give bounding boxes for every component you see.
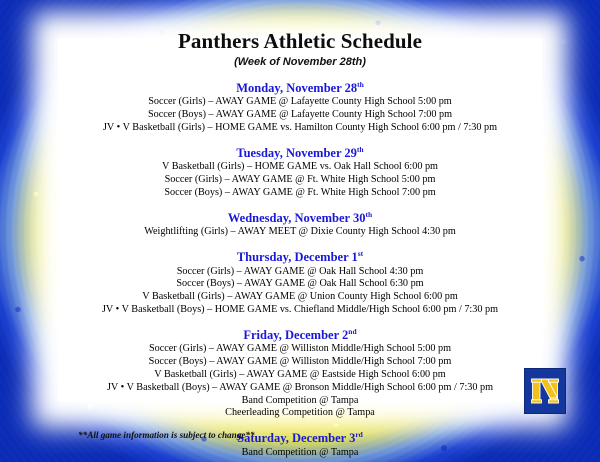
schedule-event: Soccer (Boys) – AWAY GAME @ Williston Mi… <box>40 356 560 369</box>
day-ordinal-suffix: nd <box>348 327 356 336</box>
athletic-schedule-poster: Panthers Athletic Schedule (Week of Nove… <box>0 0 600 462</box>
schedule-event: V Basketball (Girls) – AWAY GAME @ Union… <box>40 291 560 304</box>
schedule-event: Weightlifting (Girls) – AWAY MEET @ Dixi… <box>40 226 560 239</box>
schedule-day-block: Thursday, December 1stSoccer (Girls) – A… <box>40 250 560 317</box>
school-logo <box>524 368 566 414</box>
schedule-event: JV • V Basketball (Girls) – HOME GAME vs… <box>40 122 560 135</box>
schedule-day-block: Friday, December 2ndSoccer (Girls) – AWA… <box>40 328 560 420</box>
day-ordinal-suffix: rd <box>355 430 363 439</box>
day-name: Monday, November 28 <box>236 81 357 95</box>
schedule-event: Soccer (Boys) – AWAY GAME @ Oak Hall Sch… <box>40 278 560 291</box>
day-name: Wednesday, November 30 <box>228 211 366 225</box>
day-heading: Thursday, December 1st <box>40 250 560 264</box>
schedule-event: Soccer (Girls) – AWAY GAME @ Oak Hall Sc… <box>40 266 560 279</box>
schedule-event: Band Competition @ Tampa <box>40 447 560 460</box>
schedule-event: V Basketball (Girls) – HOME GAME vs. Oak… <box>40 161 560 174</box>
page-subtitle: (Week of November 28th) <box>40 56 560 68</box>
day-ordinal-suffix: th <box>365 210 372 219</box>
day-name: Friday, December 2 <box>243 328 348 342</box>
schedule-event: Soccer (Boys) – AWAY GAME @ Ft. White Hi… <box>40 187 560 200</box>
letter-n-icon <box>531 376 559 406</box>
disclaimer-note: **All game information is subject to cha… <box>78 430 255 440</box>
schedule-event: JV • V Basketball (Boys) – AWAY GAME @ B… <box>40 382 560 395</box>
day-name: Thursday, December 1 <box>237 250 358 264</box>
schedule-day-block: Tuesday, November 29thV Basketball (Girl… <box>40 146 560 200</box>
schedule-event: JV • V Basketball (Boys) – HOME GAME vs.… <box>40 304 560 317</box>
day-heading: Tuesday, November 29th <box>40 146 560 160</box>
day-heading: Monday, November 28th <box>40 81 560 95</box>
schedule-day-list: Monday, November 28thSoccer (Girls) – AW… <box>40 81 560 459</box>
schedule-event: V Basketball (Girls) – AWAY GAME @ Easts… <box>40 369 560 382</box>
schedule-event: Cheerleading Competition @ Tampa <box>40 407 560 420</box>
schedule-event: Soccer (Boys) – AWAY GAME @ Lafayette Co… <box>40 109 560 122</box>
day-ordinal-suffix: th <box>357 145 364 154</box>
schedule-day-block: Monday, November 28thSoccer (Girls) – AW… <box>40 81 560 135</box>
page-title: Panthers Athletic Schedule <box>40 30 560 53</box>
day-ordinal-suffix: th <box>357 80 364 89</box>
day-name: Tuesday, November 29 <box>236 146 357 160</box>
schedule-event: Band Competition @ Tampa <box>40 395 560 408</box>
poster-content: Panthers Athletic Schedule (Week of Nove… <box>0 0 600 460</box>
schedule-event: Soccer (Girls) – AWAY GAME @ Lafayette C… <box>40 96 560 109</box>
day-heading: Wednesday, November 30th <box>40 211 560 225</box>
day-heading: Friday, December 2nd <box>40 328 560 342</box>
schedule-event: Soccer (Girls) – AWAY GAME @ Ft. White H… <box>40 174 560 187</box>
schedule-event: Soccer (Girls) – AWAY GAME @ Williston M… <box>40 343 560 356</box>
day-ordinal-suffix: st <box>358 249 363 258</box>
schedule-day-block: Wednesday, November 30thWeightlifting (G… <box>40 211 560 239</box>
